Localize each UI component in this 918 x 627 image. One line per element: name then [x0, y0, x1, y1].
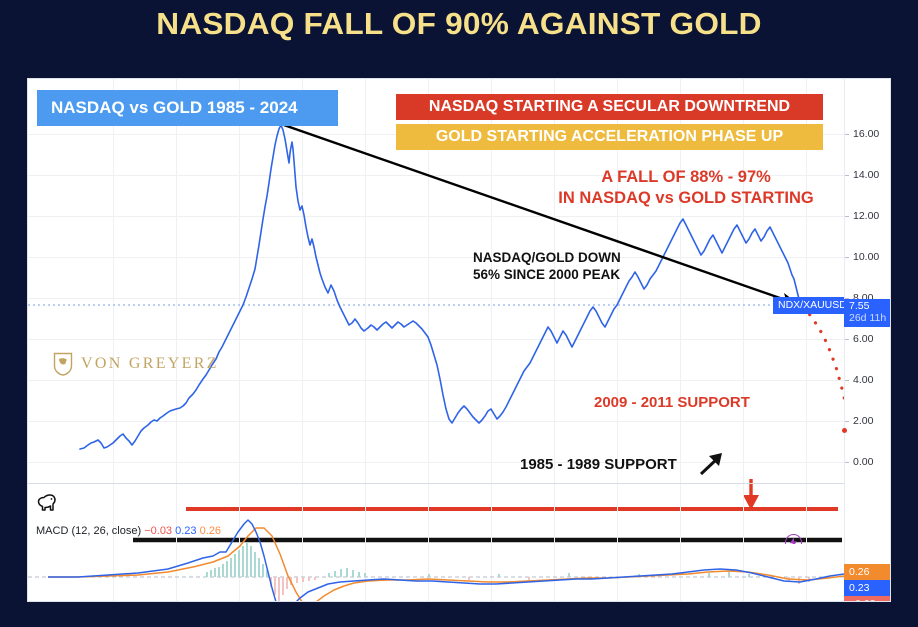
shield-crest-icon: [53, 352, 73, 376]
annotation-fall-line1: A FALL OF 88% - 97%: [521, 167, 844, 188]
annotation-nasdaq-gold-down: NASDAQ/GOLD DOWN 56% SINCE 2000 PEAK: [473, 249, 621, 283]
bar-countdown: 26d 11h: [849, 313, 891, 325]
lightning-bolt-icon[interactable]: [785, 534, 802, 544]
price-plot-area[interactable]: NASDAQ vs GOLD 1985 - 2024 NASDAQ STARTI…: [28, 79, 844, 544]
axis-dash: [845, 339, 849, 340]
axis-tick-16: 16.00: [853, 128, 879, 140]
axis-dash: [845, 462, 849, 463]
axis-tick-12: 12.00: [853, 210, 879, 222]
axis-dash: [845, 257, 849, 258]
axis-dash: [845, 380, 849, 381]
macd-panel[interactable]: MACD (12, 26, close) −0.03 0.23 0.26: [28, 483, 844, 602]
macd-signal-line: [48, 528, 844, 602]
projection-dotted-line: [803, 307, 844, 477]
axis-tick-10: 10.00: [853, 251, 879, 263]
dinosaur-icon: [36, 492, 62, 516]
macd-value-signal: 0.23: [175, 525, 196, 537]
projection-dot-marker: [842, 428, 847, 433]
axis-dash: [845, 175, 849, 176]
axis-tick-0: 0.00: [853, 456, 873, 468]
annotation-down-line2: 56% SINCE 2000 PEAK: [473, 266, 621, 283]
current-price-value: 7.55: [849, 301, 891, 313]
current-price-badge[interactable]: 7.55 26d 11h: [844, 299, 891, 327]
macd-histogram-positive: [206, 542, 750, 577]
axis-tick-4: 4.00: [853, 374, 873, 386]
macd-title-label: MACD (12, 26, close): [36, 525, 141, 537]
macd-badge-hist[interactable]: 0.26: [844, 564, 891, 580]
macd-value-macd: −0.03: [144, 525, 172, 537]
banner-nasdaq-downtrend: NASDAQ STARTING A SECULAR DOWNTREND: [396, 94, 823, 120]
macd-svg: [28, 484, 844, 602]
page-title: NASDAQ FALL OF 90% AGAINST GOLD: [0, 6, 918, 42]
annotation-support-1985-1989: 1985 - 1989 SUPPORT: [520, 456, 677, 473]
macd-title: MACD (12, 26, close) −0.03 0.23 0.26: [36, 525, 221, 537]
watermark-text: VON GREYERZ: [81, 355, 219, 373]
axis-dash: [845, 421, 849, 422]
support-1985-arrow: [701, 453, 722, 474]
annotation-down-line1: NASDAQ/GOLD DOWN: [473, 249, 621, 266]
axis-dash: [845, 216, 849, 217]
axis-tick-2: 2.00: [853, 415, 873, 427]
watermark-von-greyerz: VON GREYERZ: [53, 352, 219, 376]
axis-dash: [845, 134, 849, 135]
annotation-support-2009-2011: 2009 - 2011 SUPPORT: [594, 394, 750, 411]
chart-card: NASDAQ vs GOLD 1985 - 2024 NASDAQ STARTI…: [27, 78, 891, 602]
macd-badge-signal[interactable]: 0.23: [844, 580, 891, 596]
price-axis[interactable]: 16.00 14.00 12.00 10.00 8.00 6.00 4.00 2…: [844, 79, 891, 584]
annotation-fall-line2: IN NASDAQ vs GOLD STARTING: [521, 188, 844, 209]
macd-value-hist: 0.26: [200, 525, 221, 537]
annotation-fall-percentage: A FALL OF 88% - 97% IN NASDAQ vs GOLD ST…: [521, 167, 844, 209]
slide-root: NASDAQ FALL OF 90% AGAINST GOLD: [0, 0, 918, 627]
chart-legend-pill[interactable]: NASDAQ vs GOLD 1985 - 2024: [37, 90, 338, 126]
axis-tick-6: 6.00: [853, 333, 873, 345]
ticker-symbol-pill[interactable]: NDX/XAUUSD: [773, 297, 844, 314]
macd-badge-macd[interactable]: −0.03: [844, 596, 891, 602]
axis-tick-14: 14.00: [853, 169, 879, 181]
banner-gold-acceleration: GOLD STARTING ACCELERATION PHASE UP: [396, 124, 823, 150]
